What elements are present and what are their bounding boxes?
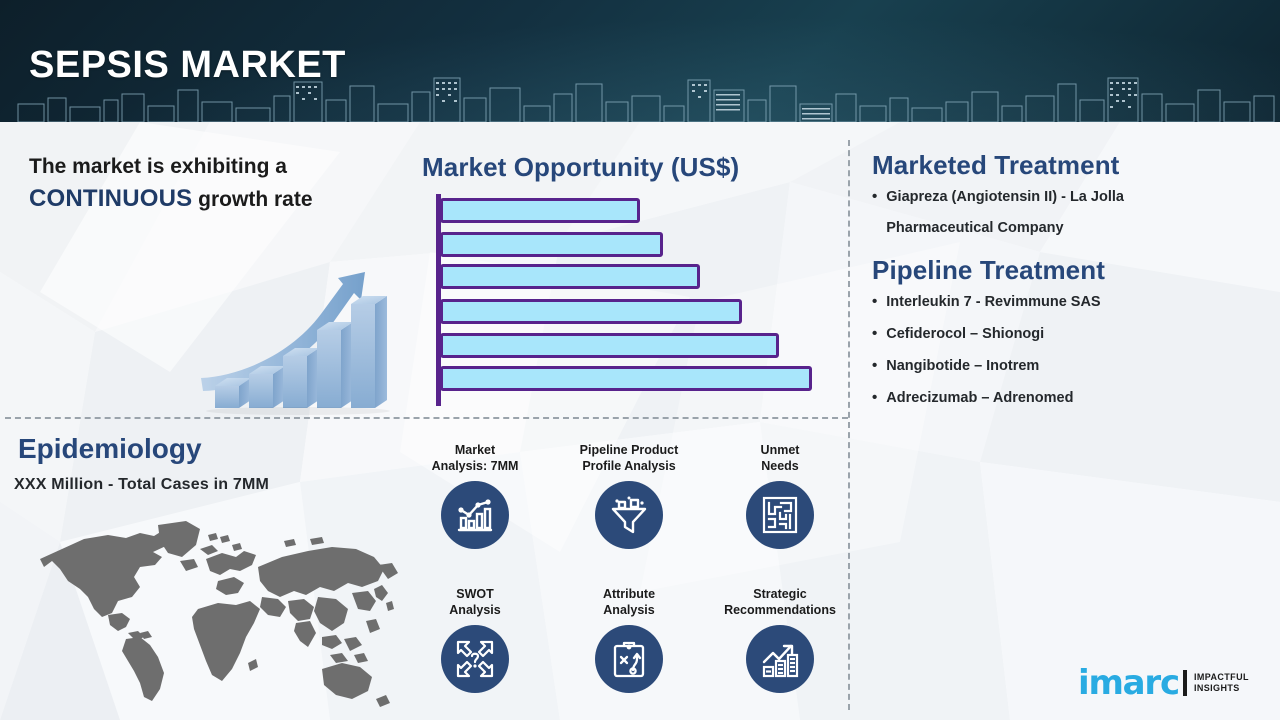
feature-label: Attribute Analysis	[554, 586, 704, 618]
bullet-icon: •	[872, 388, 877, 408]
page-title: SEPSIS MARKET	[29, 46, 346, 84]
feature-strategic-recommendations[interactable]: Strategic Recommendations	[705, 586, 855, 693]
feature-label: Market Analysis: 7MM	[400, 442, 550, 474]
pipeline-treatment-heading: Pipeline Treatment	[872, 255, 1272, 286]
epidemiology-title: Epidemiology	[18, 433, 202, 465]
feature-label: Pipeline Product Profile Analysis	[554, 442, 704, 474]
feature-label: SWOT Analysis	[400, 586, 550, 618]
bullet-icon: •	[872, 356, 877, 376]
funnel-icon	[595, 481, 663, 549]
chart-bar	[440, 299, 742, 324]
feature-pipeline-product-profile-analysis[interactable]: Pipeline Product Profile Analysis	[554, 442, 704, 549]
marketed-treatment-heading: Marketed Treatment	[872, 150, 1272, 181]
chart-bar	[440, 198, 640, 223]
growth-arrow-bars-icon	[193, 250, 393, 415]
feature-swot-analysis[interactable]: SWOT Analysis	[400, 586, 550, 693]
swot-arrows-question-icon	[441, 625, 509, 693]
clipboard-strategy-icon	[595, 625, 663, 693]
list-item: • Nangibotide – Inotrem	[872, 356, 1272, 377]
horizontal-divider	[5, 417, 848, 419]
statement-line-2: growth rate	[192, 188, 312, 211]
page-header: SEPSIS MARKET	[0, 0, 1280, 122]
logo-wordmark: imarc	[1078, 666, 1179, 700]
list-item-label: Interleukin 7 - Revimmune SAS	[886, 292, 1100, 313]
imarc-logo: imarc IMPACTFUL INSIGHTS	[1078, 666, 1249, 700]
list-item-label: Cefiderocol – Shionogi	[886, 324, 1044, 345]
chart-bar	[440, 232, 663, 257]
chart-bar	[440, 333, 779, 358]
growth-bars-arrow-icon	[746, 625, 814, 693]
list-item-label: Nangibotide – Inotrem	[886, 356, 1039, 377]
list-item-label: Giapreza (Angiotensin II) - La Jolla	[886, 189, 1124, 205]
list-item-label: Adrecizumab – Adrenomed	[886, 388, 1073, 409]
chart-bar	[440, 366, 812, 391]
feature-label: Unmet Needs	[705, 442, 855, 474]
market-analysis-chart-icon	[441, 481, 509, 549]
bullet-icon: •	[872, 324, 877, 344]
market-opportunity-title: Market Opportunity (US$)	[422, 152, 842, 183]
chart-bar	[440, 264, 700, 289]
market-opportunity-chart	[436, 194, 826, 406]
list-item: • Giapreza (Angiotensin II) - La Jolla P…	[872, 187, 1272, 239]
logo-divider	[1183, 670, 1187, 696]
feature-unmet-needs[interactable]: Unmet Needs	[705, 442, 855, 549]
list-item: • Adrecizumab – Adrenomed	[872, 388, 1272, 409]
list-item: • Cefiderocol – Shionogi	[872, 324, 1272, 345]
bullet-icon: •	[872, 187, 877, 207]
market-statement: The market is exhibiting a CONTINUOUS gr…	[29, 152, 389, 216]
feature-label: Strategic Recommendations	[705, 586, 855, 618]
feature-attribute-analysis[interactable]: Attribute Analysis	[554, 586, 704, 693]
infographic-page: SEPSIS MARKET The market is exhibiting a…	[0, 0, 1280, 720]
epidemiology-subtitle: XXX Million - Total Cases in 7MM	[14, 476, 269, 494]
statement-highlight: CONTINUOUS	[29, 185, 192, 212]
list-item: • Interleukin 7 - Revimmune SAS	[872, 292, 1272, 313]
logo-tagline: IMPACTFUL INSIGHTS	[1194, 672, 1249, 695]
feature-market-analysis[interactable]: Market Analysis: 7MM	[400, 442, 550, 549]
world-map-icon	[22, 505, 412, 710]
statement-line-1: The market is exhibiting a	[29, 155, 287, 178]
bullet-icon: •	[872, 292, 877, 312]
list-item-label-cont: Pharmaceutical Company	[886, 218, 1124, 239]
treatments-panel: Marketed Treatment • Giapreza (Angiotens…	[872, 150, 1272, 420]
maze-icon	[746, 481, 814, 549]
